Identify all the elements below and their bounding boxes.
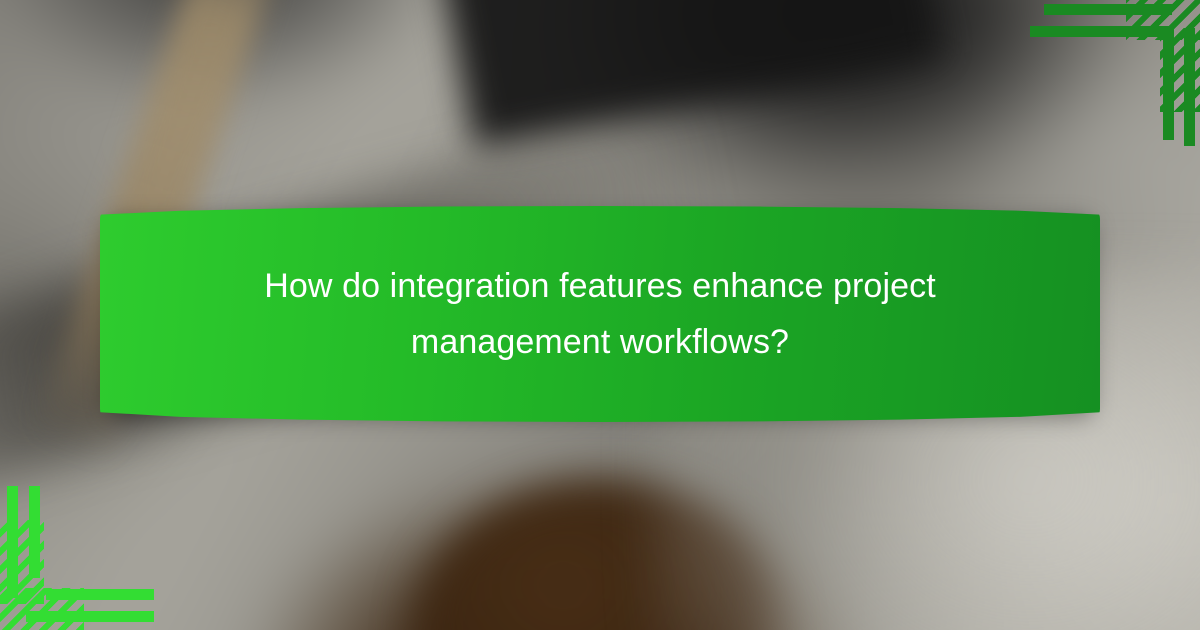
question-line-2: management workflows? [411,314,789,370]
banner-text-block: How do integration features enhance proj… [100,206,1100,422]
corner-ornament-bottom-left [0,475,172,630]
corner-ornament-top-right [1028,0,1200,146]
deco-bar [1163,28,1174,140]
deco-bar [26,611,154,622]
deco-bar [46,589,154,600]
deco-bar [29,486,40,578]
poster-canvas: How do integration features enhance proj… [0,0,1200,630]
question-line-1: How do integration features enhance proj… [264,258,936,314]
deco-bar [1030,26,1172,37]
deco-bar [1044,4,1172,15]
deco-bar [1184,28,1195,146]
deco-bar [7,486,18,598]
question-banner: How do integration features enhance proj… [100,206,1100,422]
